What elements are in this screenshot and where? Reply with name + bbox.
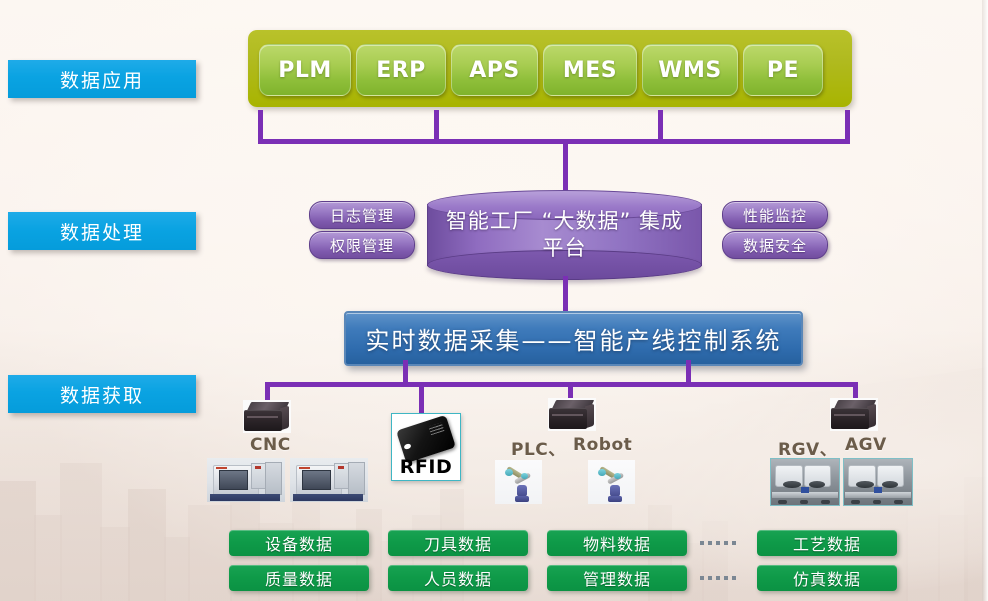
app-button-pe[interactable]: PE xyxy=(743,44,823,96)
data-type-personnel[interactable]: 人员数据 xyxy=(388,565,528,591)
connector-app-bus xyxy=(258,139,850,144)
device-label-plc: PLC、 xyxy=(511,435,566,460)
agv-cart-photo-1 xyxy=(770,458,840,506)
app-button-wms[interactable]: WMS xyxy=(642,44,738,96)
controller-module-icon-cnc xyxy=(244,402,290,432)
connector-platform-stem xyxy=(563,139,568,194)
module-performance-monitoring[interactable]: 性能监控 xyxy=(722,201,828,229)
device-label-rgv: RGV、 xyxy=(778,435,837,460)
stage-label-data-processing: 数据处理 xyxy=(8,212,196,250)
connector-app-drop-4 xyxy=(845,110,850,142)
robot-arm-photo-1 xyxy=(495,460,542,504)
app-button-plm[interactable]: PLM xyxy=(259,44,351,96)
module-permission-management[interactable]: 权限管理 xyxy=(309,231,415,259)
diagram-canvas: 数据应用 PLM ERP APS MES WMS PE 数据处理 日志管理 权限… xyxy=(0,0,988,601)
right-edge-shadow xyxy=(982,0,988,601)
data-type-material[interactable]: 物料数据 xyxy=(547,530,687,556)
platform-title-line1: 智能工厂 “大数据” 集成 xyxy=(427,208,702,235)
ellipsis-row-1 xyxy=(700,530,736,556)
module-data-security[interactable]: 数据安全 xyxy=(722,231,828,259)
data-type-process[interactable]: 工艺数据 xyxy=(757,530,897,556)
application-layer-container: PLM ERP APS MES WMS PE xyxy=(248,30,852,107)
device-label-rfid: RFID xyxy=(392,456,460,478)
connector-platform-to-control xyxy=(563,276,568,312)
rfid-card-icon-box[interactable]: RFID xyxy=(391,413,461,481)
controller-module-icon-plc xyxy=(549,400,595,430)
connector-control-drop-1 xyxy=(403,360,408,384)
connector-app-drop-2 xyxy=(434,110,439,142)
connector-app-drop-3 xyxy=(658,110,663,142)
big-data-platform-cylinder[interactable]: 智能工厂 “大数据” 集成 平台 xyxy=(427,190,702,280)
app-button-aps[interactable]: APS xyxy=(451,44,538,96)
device-label-cnc: CNC xyxy=(250,435,291,455)
connector-device-drop-rfid xyxy=(419,382,424,414)
data-type-management[interactable]: 管理数据 xyxy=(547,565,687,591)
connector-app-drop-1 xyxy=(258,110,263,142)
module-log-management[interactable]: 日志管理 xyxy=(309,201,415,229)
device-label-agv: AGV xyxy=(845,435,887,455)
connector-control-drop-2 xyxy=(686,360,691,384)
app-button-mes[interactable]: MES xyxy=(543,44,637,96)
data-type-equipment[interactable]: 设备数据 xyxy=(229,530,369,556)
stage-label-data-application: 数据应用 xyxy=(8,60,196,98)
data-type-quality[interactable]: 质量数据 xyxy=(229,565,369,591)
platform-title-line2: 平台 xyxy=(427,235,702,262)
platform-title: 智能工厂 “大数据” 集成 平台 xyxy=(427,208,702,262)
data-type-simulation[interactable]: 仿真数据 xyxy=(757,565,897,591)
cnc-machine-photo-1 xyxy=(207,458,285,502)
connector-device-bus xyxy=(265,382,858,387)
stage-label-data-acquisition: 数据获取 xyxy=(8,375,196,413)
cnc-machine-photo-2 xyxy=(290,458,368,502)
device-label-robot: Robot xyxy=(573,435,632,455)
agv-cart-photo-2 xyxy=(843,458,913,506)
app-button-erp[interactable]: ERP xyxy=(356,44,446,96)
data-type-tooling[interactable]: 刀具数据 xyxy=(388,530,528,556)
robot-arm-photo-2 xyxy=(588,460,635,504)
controller-module-icon-rgv xyxy=(831,400,877,430)
control-system-bar[interactable]: 实时数据采集——智能产线控制系统 xyxy=(344,311,803,366)
ellipsis-row-2 xyxy=(700,565,736,591)
